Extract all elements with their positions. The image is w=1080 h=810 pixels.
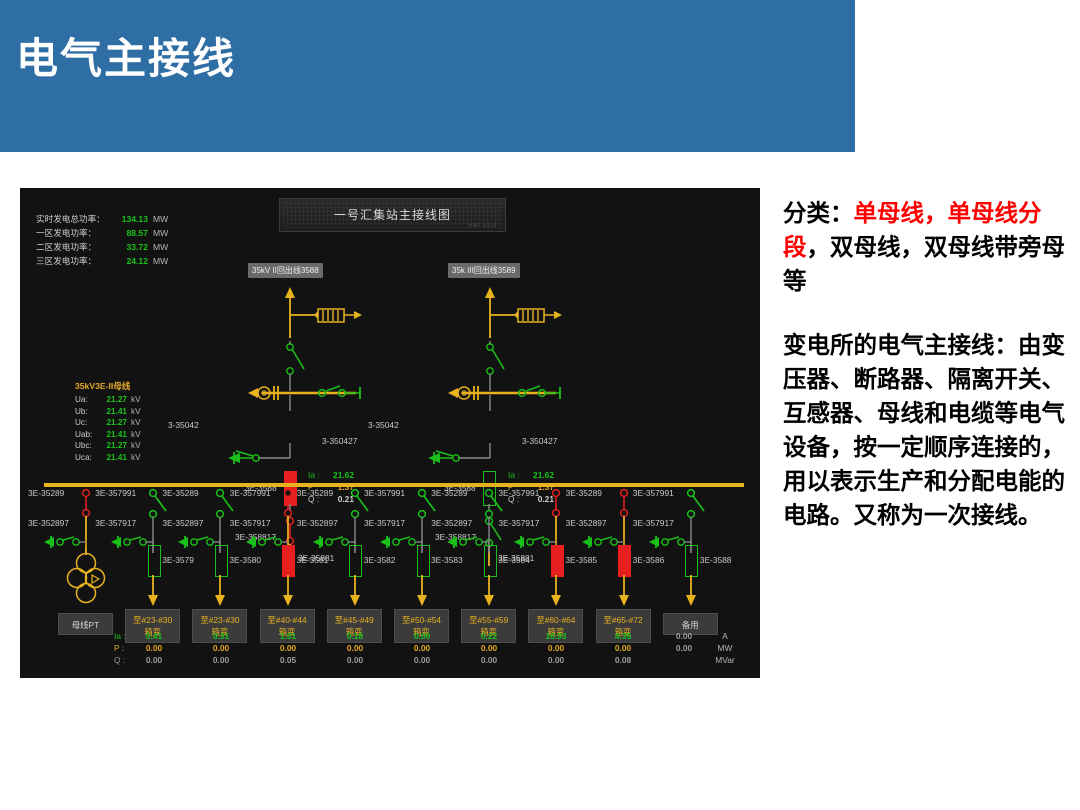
bus-voltage-key: Ua: [75, 394, 99, 406]
feeder-bay-7-breaker-label: 3E-3584 [498, 555, 530, 565]
feeder-bay-9-breaker-symbol[interactable] [618, 545, 631, 577]
station-title-subtext: HMI V1.0 [468, 223, 497, 229]
feeder-bay-7-outgoing-arrow [482, 575, 496, 607]
feeder-bay-4-outgoing-arrow [281, 575, 295, 607]
stat-row: 一区发电功率：88.57MW [36, 226, 168, 240]
feeder-bay-9-upper-switch-label: 3E-35289 [566, 488, 602, 498]
readout-ia-value: 21.62 [324, 469, 354, 481]
feeder-bay-6-upper-switch-label: 3E-357991 [364, 488, 405, 498]
measurement-cell: 0.00 [199, 654, 243, 666]
feeder-bay-2-breaker-label: 3E-3579 [162, 555, 194, 565]
incomer-2-iso-lower-label: 3-350427 [522, 436, 557, 446]
measurement-cell: 0.18 [333, 630, 377, 642]
measurement-cell: 0.05 [266, 654, 310, 666]
bus-voltage-key: Ub: [75, 406, 99, 418]
stat-row: 实时发电总功率：134.13MW [36, 212, 168, 226]
notes-paragraph-2: 变电所的电气主接线：由变压器、断路器、隔离开关、互感器、母线和电缆等电气设备，按… [783, 328, 1071, 532]
bus-voltage-row: Uca:21.41kV [75, 452, 141, 464]
readout-ia-key: Ia : [508, 469, 524, 481]
measurement-cell: 4.35 [601, 630, 645, 642]
measurement-cell: 0.00 [601, 642, 645, 654]
bus-voltage-unit: kV [131, 407, 141, 416]
feeder-bay-10-lower-switch-label: 3E-357917 [633, 518, 674, 528]
incomer-1-iso-lower-label: 3-350427 [322, 436, 357, 446]
stat-row: 三区发电功率：24.12MW [36, 254, 168, 268]
bus-pt-label-box[interactable]: 母线PT [58, 613, 113, 635]
feeder-bay-2-upper-switch-label: 3E-357991 [95, 488, 136, 498]
feeder-bay-9-breaker-label: 3E-3586 [633, 555, 665, 565]
feeder-bay-5-upper-switch-label: 3E-35289 [297, 488, 333, 498]
feeder-bay-2-breaker-symbol[interactable] [148, 545, 161, 577]
stat-unit: MW [153, 214, 168, 224]
measurement-cell: 0.00 [467, 642, 511, 654]
measurement-cell: 0.00 [400, 654, 444, 666]
bus-voltage-value: 21.27 [99, 417, 127, 429]
bus-voltage-unit: kV [131, 441, 141, 450]
bus-voltage-value: 21.27 [99, 394, 127, 406]
feeder-bay-8-upper-switch-label: 3E-357991 [498, 488, 539, 498]
measurement-cell: 0.00 [199, 642, 243, 654]
feeder-bay-4-upper-switch-label: 3E-357991 [230, 488, 271, 498]
bus-voltage-row: Ua:21.27kV [75, 394, 141, 406]
feeder-bay-4-breaker-symbol[interactable] [282, 545, 295, 577]
bus-voltage-key: Uca: [75, 452, 99, 464]
feeder-bay-6-outgoing-arrow [415, 575, 429, 607]
measurement-row-ia: Ia : 0.41 0.31 1.01 0.18 0.00 0.22 16.93… [114, 630, 754, 642]
incomer-tag-1[interactable]: 35kV II回出线3588 [248, 263, 323, 278]
feeder-bay-8-lower-switch-label: 3E-357917 [498, 518, 539, 528]
feeder-bay-8-breaker-label: 3E-3585 [565, 555, 597, 565]
measurement-cell: 0.08 [601, 654, 645, 666]
notes-paragraph-1: 分类：单母线，单母线分段，双母线，双母线带旁母等 [783, 196, 1071, 298]
feeder-bay-6-breaker-label: 3E-3583 [431, 555, 463, 565]
feeder-bay-7-lower-switch-label: 3E-352897 [431, 518, 472, 528]
measurement-row-q: Q : 0.00 0.00 0.05 0.00 0.00 0.00 0.00 0… [114, 654, 754, 666]
bus-voltage-transformer-icon[interactable] [58, 547, 114, 611]
measurement-unit: MW [710, 642, 740, 654]
stat-label: 二区发电功率： [36, 240, 114, 254]
feeder-bay-1-upper-switch-label: 3E-35289 [28, 488, 64, 498]
measurement-cell: 0.41 [132, 630, 176, 642]
measurement-cell: 1.01 [266, 630, 310, 642]
bus-voltage-row: Uc:21.27kV [75, 417, 141, 429]
bus-voltage-row: Ubc:21.27kV [75, 440, 141, 452]
readout-ia-key: Ia : [308, 469, 324, 481]
stat-unit: MW [153, 242, 168, 252]
station-title-text: 一号汇集站主接线图 [280, 206, 505, 223]
stat-value: 24.12 [114, 254, 148, 268]
bus-voltage-header: 35kV3E-II母线 [75, 380, 141, 392]
feeder-bay-3-breaker-symbol[interactable] [215, 545, 228, 577]
stat-label: 一区发电功率： [36, 226, 114, 240]
incomer-1-schematic [170, 283, 380, 483]
measurement-cell: 0.00 [534, 654, 578, 666]
feeder-bay-4-lower-switch-label: 3E-357917 [230, 518, 271, 528]
measurement-cell: 0.00 [400, 630, 444, 642]
generation-stats-block: 实时发电总功率：134.13MW 一区发电功率：88.57MW 二区发电功率：3… [36, 212, 168, 268]
measurement-cell: 0.00 [662, 642, 706, 654]
incomer-tag-2[interactable]: 35k III回出线3589 [448, 263, 520, 278]
feeder-bay-8-breaker-symbol[interactable] [551, 545, 564, 577]
feeder-bay-10-breaker-symbol[interactable] [685, 545, 698, 577]
feeder-bay-4-breaker-label: 3E-3581 [297, 555, 329, 565]
bus-voltage-unit: kV [131, 418, 141, 427]
bus-voltage-unit: kV [131, 430, 141, 439]
bus-voltage-row: Ub:21.41kV [75, 406, 141, 418]
feeder-bay-3-upper-switch-label: 3E-35289 [162, 488, 198, 498]
bus-voltage-value: 21.27 [99, 440, 127, 452]
measurement-cell: 0.00 [333, 654, 377, 666]
feeder-bay-3-outgoing-arrow [213, 575, 227, 607]
measurement-row-key: P : [114, 642, 130, 654]
bus-voltage-key: Uab: [75, 429, 99, 441]
feeder-bay-3-breaker-label: 3E-3580 [229, 555, 261, 565]
measurement-cell: 0.00 [333, 642, 377, 654]
measurement-row-key: Q : [114, 654, 130, 666]
measurement-cell: 0.00 [662, 630, 706, 642]
stat-label: 三区发电功率： [36, 254, 114, 268]
measurement-row-p: P : 0.00 0.00 0.00 0.00 0.00 0.00 0.00 0… [114, 642, 754, 654]
measurement-cell: 0.00 [534, 642, 578, 654]
feeder-bay-10-outgoing-arrow [684, 575, 698, 607]
bus-voltage-unit: kV [131, 395, 141, 404]
bus-voltage-row: Uab:21.41kV [75, 429, 141, 441]
feeder-bay-3-lower-switch-label: 3E-352897 [162, 518, 203, 528]
measurement-unit: MVar [710, 654, 740, 666]
feeder-bay-6-breaker-symbol[interactable] [417, 545, 430, 577]
measurement-unit: A [710, 630, 740, 642]
feeder-bay-2-outgoing-arrow [146, 575, 160, 607]
notes-classification-rest: ，双母线，双母线带旁母等 [783, 234, 1065, 294]
measurement-cell: 0.00 [132, 642, 176, 654]
station-title-plate: 一号汇集站主接线图 HMI V1.0 [279, 198, 506, 232]
incomer-1-iso-upper-label: 3-35042 [168, 420, 199, 430]
explanatory-notes: 分类：单母线，单母线分段，双母线，双母线带旁母等 变电所的电气主接线：由变压器、… [783, 196, 1071, 532]
feeder-bay-7-upper-switch-label: 3E-35289 [431, 488, 467, 498]
feeder-bay-5-outgoing-arrow [348, 575, 362, 607]
stat-value: 33.72 [114, 240, 148, 254]
feeder-bay-8-outgoing-arrow [549, 575, 563, 607]
stat-unit: MW [153, 228, 168, 238]
bus-voltage-value: 21.41 [99, 406, 127, 418]
measurement-cell: 16.93 [534, 630, 578, 642]
incomer-2-iso-upper-label: 3-35042 [368, 420, 399, 430]
feeder-bay-7-breaker-symbol[interactable] [484, 545, 497, 577]
bus-voltage-readout: 35kV3E-II母线 Ua:21.27kV Ub:21.41kV Uc:21.… [75, 380, 141, 463]
stat-label: 实时发电总功率： [36, 212, 114, 226]
page-title: 电气主接线 [16, 38, 236, 80]
measurement-row-key: Ia : [114, 630, 130, 642]
bus-voltage-key: Ubc: [75, 440, 99, 452]
feeder-bay-5-breaker-label: 3E-3582 [364, 555, 396, 565]
feeder-bay-5-lower-switch-label: 3E-352897 [297, 518, 338, 528]
stat-row: 二区发电功率：33.72MW [36, 240, 168, 254]
feeder-bay-6-lower-switch-label: 3E-357917 [364, 518, 405, 528]
scada-single-line-diagram[interactable]: 实时发电总功率：134.13MW 一区发电功率：88.57MW 二区发电功率：3… [20, 188, 760, 678]
feeder-bay-9-outgoing-arrow [617, 575, 631, 607]
feeder-bay-2-lower-switch-label: 3E-357917 [95, 518, 136, 528]
measurement-cell: 0.00 [132, 654, 176, 666]
feeder-bay-10-breaker-label: 3E-3588 [700, 555, 732, 565]
feeder-measurement-table: Ia : 0.41 0.31 1.01 0.18 0.00 0.22 16.93… [114, 630, 754, 666]
measurement-cell: 0.00 [400, 642, 444, 654]
bus-voltage-value: 21.41 [99, 429, 127, 441]
measurement-cell: 0.00 [467, 654, 511, 666]
notes-classification-prefix: 分类： [783, 200, 854, 226]
measurement-cell: 0.31 [199, 630, 243, 642]
feeder-bay-1-lower-switch-label: 3E-352897 [28, 518, 69, 528]
stat-unit: MW [153, 256, 168, 266]
bus-voltage-key: Uc: [75, 417, 99, 429]
feeder-bay-9-lower-switch-label: 3E-352897 [566, 518, 607, 528]
feeder-bay-10-upper-switch-label: 3E-357991 [633, 488, 674, 498]
incomer-2-schematic [370, 283, 580, 483]
measurement-cell: 0.00 [266, 642, 310, 654]
stat-value: 134.13 [114, 212, 148, 226]
feeder-bay-5-breaker-symbol[interactable] [349, 545, 362, 577]
measurement-cell: 0.22 [467, 630, 511, 642]
bus-voltage-value: 21.41 [99, 452, 127, 464]
stat-value: 88.57 [114, 226, 148, 240]
bus-voltage-unit: kV [131, 453, 141, 462]
readout-ia-value: 21.62 [524, 469, 554, 481]
